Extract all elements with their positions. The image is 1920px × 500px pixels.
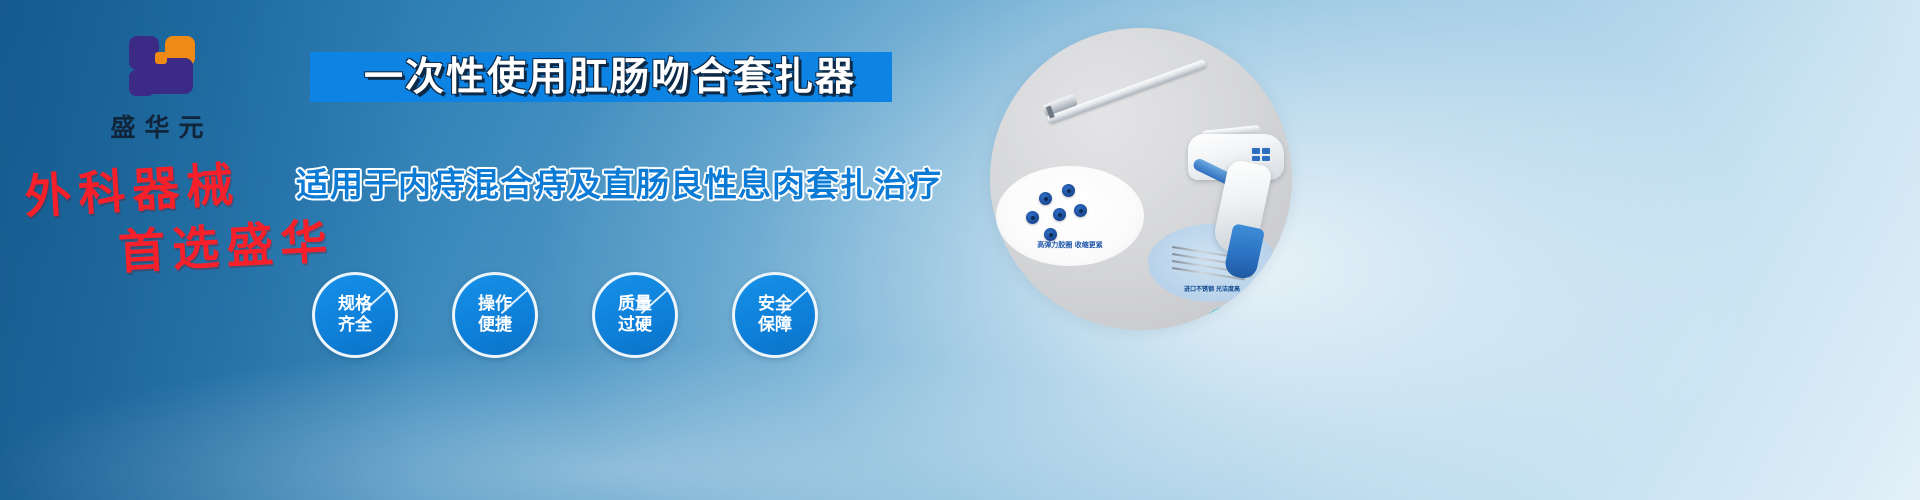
rubber-ring-icon <box>1026 211 1039 224</box>
calligraphy-line-2: 首选盛华 <box>116 202 335 282</box>
brand-logo[interactable]: 盛华元 <box>62 26 252 144</box>
feature-badge-line2: 过硬 <box>618 315 652 336</box>
product-photo: 高弹力胶圈 收缩更紧 进口不锈钢 光洁度高 <box>990 28 1292 330</box>
feature-badge-list: 规格 齐全 操作 便捷 质量 过硬 安全 保障 <box>312 272 852 364</box>
promo-banner: 盛华元 外科器械 首选盛华 一次性使用肛肠吻合套扎器 适用于内痔混合痔及直肠良性… <box>0 0 1920 500</box>
subheadline-text: 适用于内痔混合痔及直肠良性息肉套扎治疗 <box>296 158 896 206</box>
feature-badge-line2: 齐全 <box>338 315 372 336</box>
logo-mark-icon <box>111 26 203 104</box>
ligation-device-icon <box>1042 50 1292 300</box>
bottom-glow <box>0 320 1920 500</box>
feature-badge-line2: 便捷 <box>478 315 512 336</box>
headline-title: 一次性使用肛肠吻合套扎器 <box>330 54 890 102</box>
feature-badge[interactable]: 质量 过硬 <box>592 272 678 358</box>
feature-badge[interactable]: 安全 保障 <box>732 272 818 358</box>
feature-badge-line2: 保障 <box>758 315 792 336</box>
feature-badge-line1: 安全 <box>758 294 792 315</box>
feature-badge-line1: 规格 <box>338 294 372 315</box>
feature-badge-line1: 质量 <box>618 294 652 315</box>
tube-inset <box>1196 300 1292 330</box>
tube-body-icon <box>1218 320 1292 330</box>
feature-badge[interactable]: 操作 便捷 <box>452 272 538 358</box>
feature-badge[interactable]: 规格 齐全 <box>312 272 398 358</box>
feature-badge-line1: 操作 <box>478 294 512 315</box>
brand-name: 盛华元 <box>62 108 252 144</box>
